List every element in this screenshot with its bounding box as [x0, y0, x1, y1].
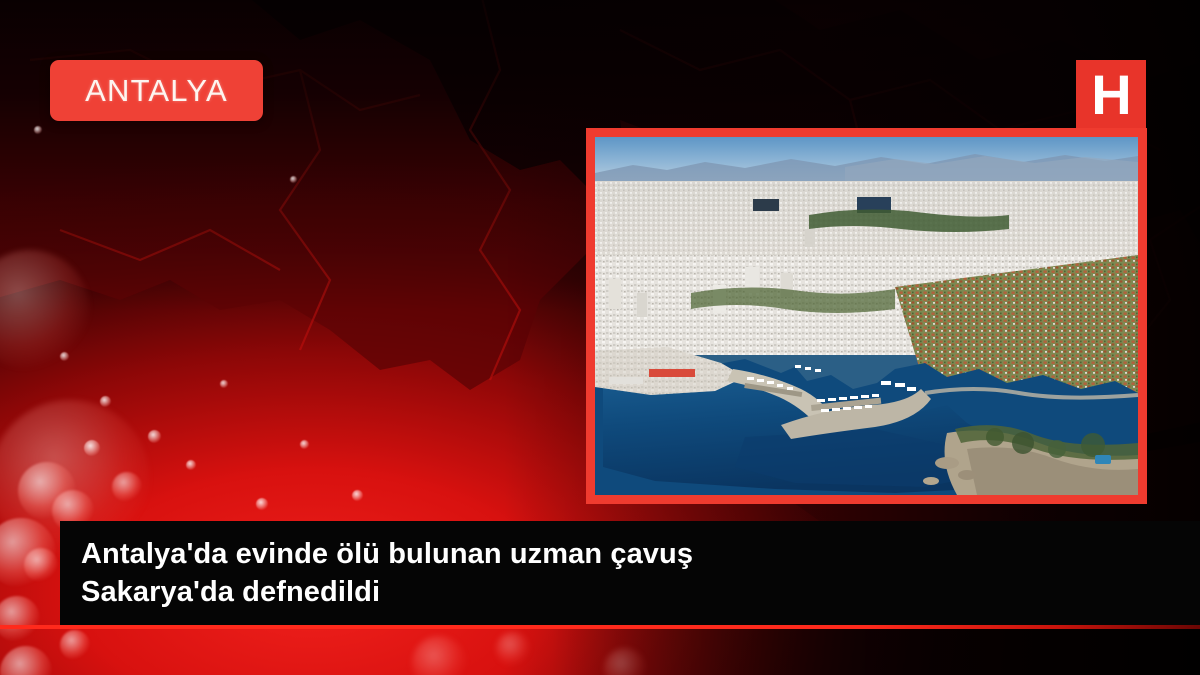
city-badge-label: ANTALYA: [85, 75, 228, 106]
news-card: ANTALYA H: [0, 0, 1200, 675]
logo-letter: H: [1091, 67, 1130, 123]
headline-bar: Antalya'da evinde ölü bulunan uzman çavu…: [60, 521, 1200, 625]
headline-line-2: Sakarya'da defnedildi: [81, 573, 1200, 611]
photo-frame: [586, 128, 1147, 504]
bottom-shadow-fill: [0, 629, 1200, 675]
headline-line-1: Antalya'da evinde ölü bulunan uzman çavu…: [81, 535, 1200, 573]
haberler-logo[interactable]: H: [1076, 60, 1146, 130]
city-badge: ANTALYA: [50, 60, 263, 121]
photo-antalya-harbor: [595, 137, 1138, 495]
